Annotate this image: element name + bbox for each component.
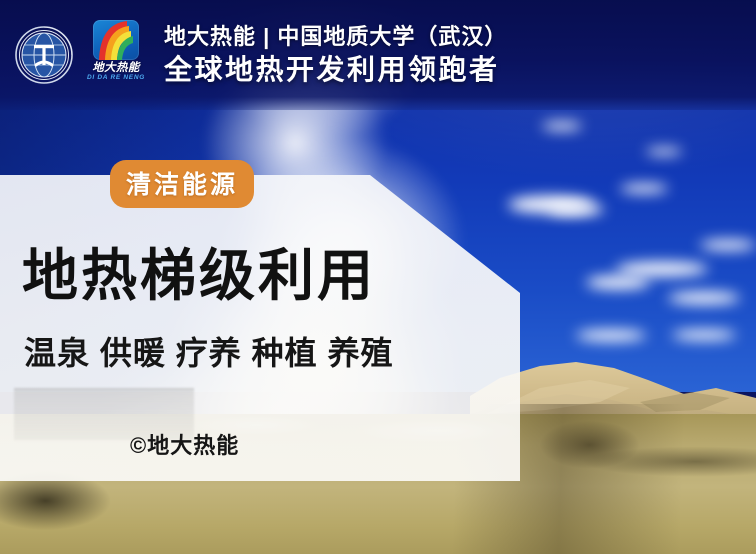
header-bar: 地大热能 DI DA RE NENG 地大热能 | 中国地质大学（武汉） 全球地… (0, 0, 756, 110)
cloud-icon (586, 276, 650, 289)
cloud-icon (542, 122, 582, 130)
cloud-icon (620, 184, 668, 193)
cloud-icon (700, 240, 756, 250)
cloud-icon (616, 262, 708, 276)
header-line-primary: 地大热能 | 中国地质大学（武汉） (164, 23, 507, 51)
header-line-slogan: 全球地热开发利用领跑者 (164, 53, 507, 87)
university-seal-icon (14, 25, 74, 85)
didareneng-logo-icon: 地大热能 DI DA RE NENG (80, 20, 152, 92)
cloud-icon (668, 292, 740, 304)
cloud-icon (646, 148, 682, 155)
promo-banner: 地大热能 DI DA RE NENG 地大热能 | 中国地质大学（武汉） 全球地… (0, 0, 756, 554)
copyright-notice: ©地大热能 (130, 432, 239, 460)
logo-tile (93, 20, 139, 60)
application-list: 温泉 供暖 疗养 种植 养殖 (24, 332, 394, 374)
cloud-icon (548, 204, 604, 215)
header-text-block: 地大热能 | 中国地质大学（武汉） 全球地热开发利用领跑者 (164, 23, 507, 87)
logo-name-cn: 地大热能 (92, 62, 140, 74)
page-title: 地热梯级利用 (22, 244, 376, 308)
clean-energy-badge: 清洁能源 (110, 160, 254, 208)
logo-name-en: DI DA RE NENG (87, 74, 145, 82)
